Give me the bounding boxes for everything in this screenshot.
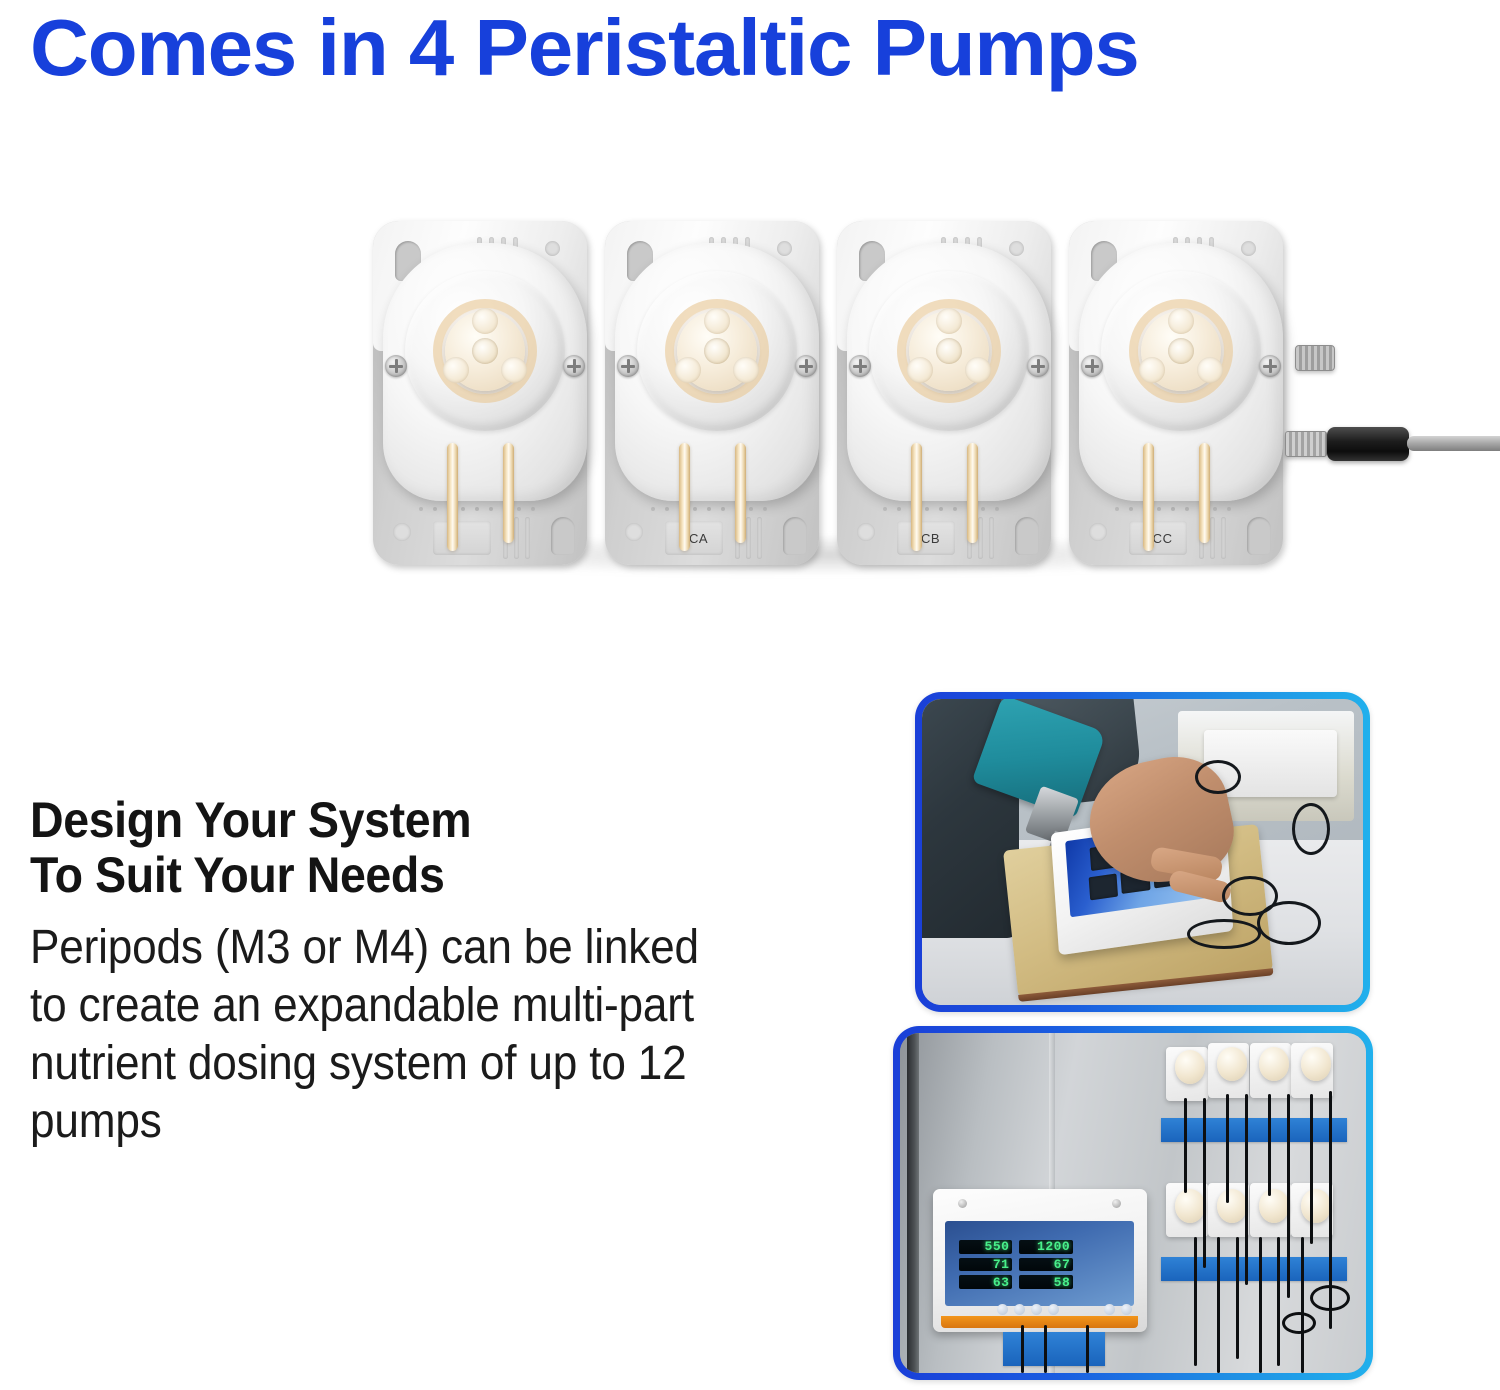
channel-label-box: ECA: [665, 521, 723, 555]
rotor-head: [445, 311, 525, 391]
inlet-tube: [679, 443, 690, 551]
pump-head: [383, 243, 587, 501]
copy-heading: Design Your System To Suit Your Needs: [30, 793, 718, 903]
copy-heading-line1: Design Your System: [30, 792, 471, 848]
keyhole-slot-bottom-icon: [1015, 517, 1039, 555]
rotor-head: [909, 311, 989, 391]
readout-grid: 550 1200 71 67 63 58: [959, 1240, 1076, 1290]
copy-heading-line2: To Suit Your Needs: [30, 847, 444, 903]
screw-icon: [617, 355, 639, 377]
screw-icon: [795, 355, 817, 377]
installation-photo: [922, 699, 1363, 1005]
rotor-lobe: [704, 308, 730, 334]
rotor-lobe: [907, 357, 933, 383]
outlet-tube: [967, 443, 978, 543]
screw-icon: [849, 355, 871, 377]
readout-cell: 1200: [1019, 1240, 1073, 1254]
copy-body: Peripods (M3 or M4) can be linked to cre…: [30, 919, 711, 1151]
pump-assembly-image: ECA: [355, 205, 1355, 605]
pump-module-4: ECC: [1065, 205, 1311, 565]
outlet-tube: [1199, 443, 1210, 543]
connector-wire: [1407, 436, 1500, 451]
plate-dot: [1009, 241, 1024, 256]
pump-dome-cover: [869, 271, 1029, 431]
pump-module-1: [369, 205, 615, 565]
readout-cell: 71: [959, 1258, 1013, 1272]
base-dot: [393, 523, 411, 541]
keyhole-slot-bottom-icon: [783, 517, 807, 555]
rotor-lobe: [965, 357, 991, 383]
controller-screen: 550 1200 71 67 63 58: [945, 1221, 1134, 1307]
plate-dot: [545, 241, 560, 256]
base-dot: [857, 523, 875, 541]
rotor-lobe: [675, 357, 701, 383]
screw-icon: [385, 355, 407, 377]
screw-icon: [1081, 355, 1103, 377]
channel-label-box: [433, 521, 491, 555]
perforation-row: [651, 507, 779, 511]
channel-label-box: ECC: [1129, 521, 1187, 555]
pump-module-2: ECA: [601, 205, 847, 565]
perforation-row: [883, 507, 1011, 511]
connector-metal-collar: [1285, 431, 1327, 457]
copy-block: Design Your System To Suit Your Needs Pe…: [30, 793, 770, 1151]
perforation-row: [419, 507, 547, 511]
inlet-tube: [1143, 443, 1154, 551]
base-dot: [625, 523, 643, 541]
label-tape: [1003, 1332, 1106, 1366]
rotor-lobe: [472, 308, 498, 334]
rotor-lobe: [1197, 357, 1223, 383]
pump-dome-cover: [1101, 271, 1261, 431]
outlet-tube: [735, 443, 746, 543]
pump-head: [847, 243, 1051, 501]
readout-cell: 67: [1019, 1258, 1073, 1272]
rotor-lobe: [936, 308, 962, 334]
readout-cell: 550: [959, 1240, 1013, 1254]
controller-orange-strip: [941, 1316, 1138, 1327]
screw-icon: [1259, 355, 1281, 377]
rotor-lobe: [1139, 357, 1165, 383]
screw-icon: [1027, 355, 1049, 377]
infographic-page: Comes in 4 Peristaltic Pumps: [0, 0, 1500, 1390]
keyhole-slot-bottom-icon: [551, 517, 575, 555]
wall-controller: 550 1200 71 67 63 58: [933, 1189, 1147, 1332]
rotor-lobe: [1168, 308, 1194, 334]
label-tape: [1161, 1257, 1347, 1281]
plate-dot: [777, 241, 792, 256]
readout-cell: 63: [959, 1275, 1013, 1289]
coiled-cable: [1187, 919, 1261, 949]
rotor-lobe: [501, 357, 527, 383]
screw-icon: [563, 355, 585, 377]
perforation-row: [1115, 507, 1243, 511]
rotor-head: [677, 311, 757, 391]
channel-label-box: ECB: [897, 521, 955, 555]
plate-dot: [1241, 241, 1256, 256]
keyhole-slot-bottom-icon: [1247, 517, 1271, 555]
pump-dome-cover: [405, 271, 565, 431]
pump-dome-cover: [637, 271, 797, 431]
panel-edge: [907, 1033, 919, 1373]
connector-plug: [1327, 427, 1409, 461]
wall-install-photo-card: 550 1200 71 67 63 58: [893, 1026, 1373, 1380]
rotor-lobe: [443, 357, 469, 383]
pump-head: [1079, 243, 1283, 501]
coiled-cable: [1257, 901, 1321, 945]
readout-cell: 58: [1019, 1275, 1073, 1289]
base-dot: [1089, 523, 1107, 541]
inlet-tube: [911, 443, 922, 551]
wall-install-photo: 550 1200 71 67 63 58: [900, 1033, 1366, 1373]
connector-port: [1295, 345, 1335, 371]
rotor-lobe: [733, 357, 759, 383]
pump-module-3: ECB: [833, 205, 1079, 565]
outlet-tube: [503, 443, 514, 543]
rotor-head: [1141, 311, 1221, 391]
label-tape: [1161, 1118, 1347, 1142]
page-title: Comes in 4 Peristaltic Pumps: [30, 2, 1499, 94]
pump-head: [615, 243, 819, 501]
installation-photo-card: [915, 692, 1370, 1012]
inlet-tube: [447, 443, 458, 551]
